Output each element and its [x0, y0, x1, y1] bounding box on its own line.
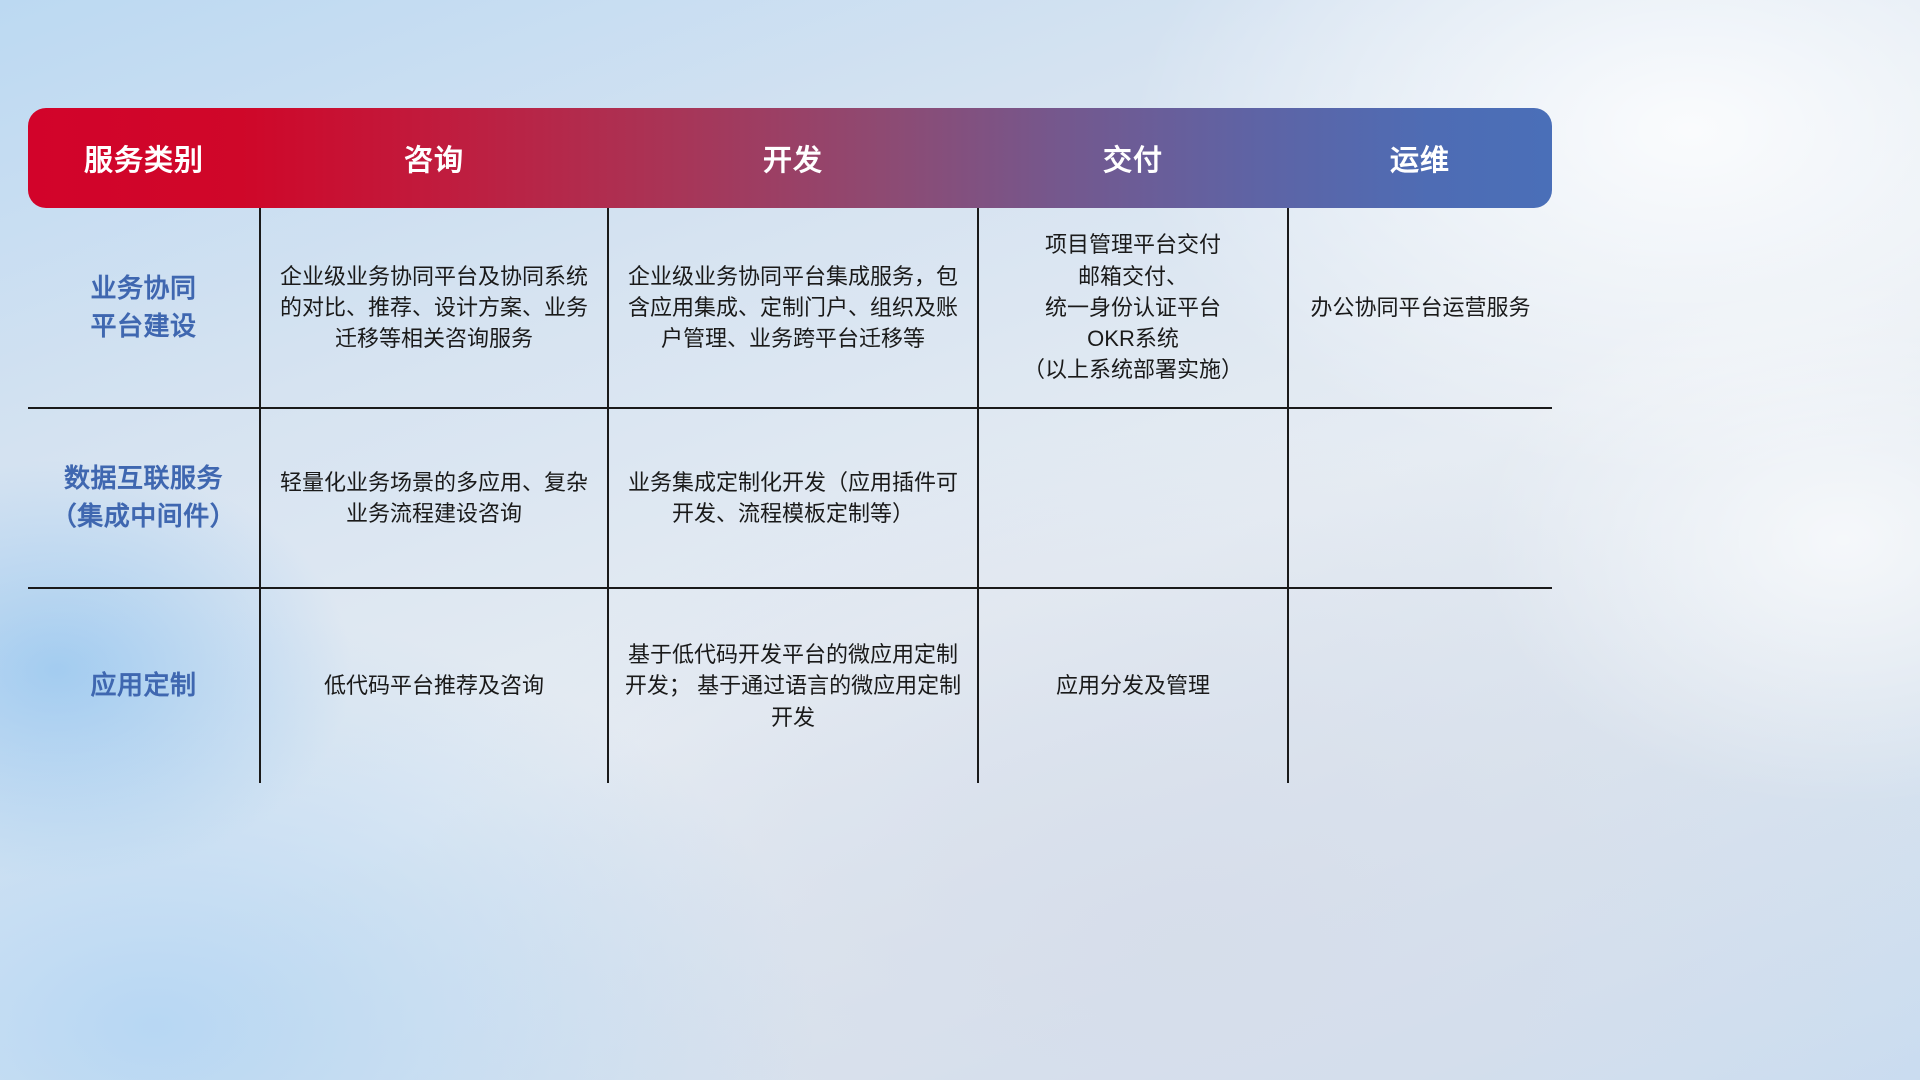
row-category-label: 业务协同 平台建设	[28, 208, 260, 408]
cell-development: 业务集成定制化开发（应用插件可开发、流程模板定制等）	[608, 408, 978, 588]
delivery-line: OKR系统	[991, 323, 1275, 354]
cell-delivery: 项目管理平台交付 邮箱交付、 统一身份认证平台 OKR系统 （以上系统部署实施）	[978, 208, 1288, 408]
column-header-development: 开发	[608, 108, 978, 208]
column-header-operations: 运维	[1288, 108, 1552, 208]
delivery-line: 统一身份认证平台	[991, 292, 1275, 323]
delivery-line: 项目管理平台交付	[991, 229, 1275, 260]
cell-development: 基于低代码开发平台的微应用定制开发； 基于通过语言的微应用定制开发	[608, 588, 978, 783]
table-row: 应用定制 低代码平台推荐及咨询 基于低代码开发平台的微应用定制开发； 基于通过语…	[28, 588, 1552, 783]
category-line: （集成中间件）	[40, 498, 247, 536]
category-line: 业务协同	[40, 270, 247, 308]
cell-consulting: 低代码平台推荐及咨询	[260, 588, 608, 783]
row-category-label: 应用定制	[28, 588, 260, 783]
table-body: 业务协同 平台建设 企业级业务协同平台及协同系统的对比、推荐、设计方案、业务迁移…	[28, 208, 1552, 783]
delivery-line: 应用分发及管理	[991, 670, 1275, 701]
cell-delivery: 应用分发及管理	[978, 588, 1288, 783]
cell-operations	[1288, 588, 1552, 783]
category-line: 数据互联服务	[40, 460, 247, 498]
cell-consulting: 轻量化业务场景的多应用、复杂业务流程建设咨询	[260, 408, 608, 588]
delivery-line: （以上系统部署实施）	[991, 354, 1275, 385]
cell-delivery	[978, 408, 1288, 588]
development-line: 基于通过语言的微应用定制开发	[697, 673, 961, 729]
cell-development: 企业级业务协同平台集成服务，包含应用集成、定制门户、组织及账户管理、业务跨平台迁…	[608, 208, 978, 408]
header-row: 服务类别 咨询 开发 交付 运维	[28, 108, 1552, 208]
cell-consulting: 企业级业务协同平台及协同系统的对比、推荐、设计方案、业务迁移等相关咨询服务	[260, 208, 608, 408]
table-row: 数据互联服务 （集成中间件） 轻量化业务场景的多应用、复杂业务流程建设咨询 业务…	[28, 408, 1552, 588]
cell-operations	[1288, 408, 1552, 588]
delivery-line: 邮箱交付、	[991, 261, 1275, 292]
row-category-label: 数据互联服务 （集成中间件）	[28, 408, 260, 588]
column-header-delivery: 交付	[978, 108, 1288, 208]
service-matrix-table: 服务类别 咨询 开发 交付 运维 业务协同 平台建设 企业级业务协同平台及协同系…	[28, 108, 1552, 783]
column-header-consulting: 咨询	[260, 108, 608, 208]
category-line: 应用定制	[40, 667, 247, 705]
service-matrix-container: 服务类别 咨询 开发 交付 运维 业务协同 平台建设 企业级业务协同平台及协同系…	[28, 108, 1876, 783]
table-header: 服务类别 咨询 开发 交付 运维	[28, 108, 1552, 208]
category-line: 平台建设	[40, 308, 247, 346]
column-header-category: 服务类别	[28, 108, 260, 208]
cell-operations: 办公协同平台运营服务	[1288, 208, 1552, 408]
table-row: 业务协同 平台建设 企业级业务协同平台及协同系统的对比、推荐、设计方案、业务迁移…	[28, 208, 1552, 408]
